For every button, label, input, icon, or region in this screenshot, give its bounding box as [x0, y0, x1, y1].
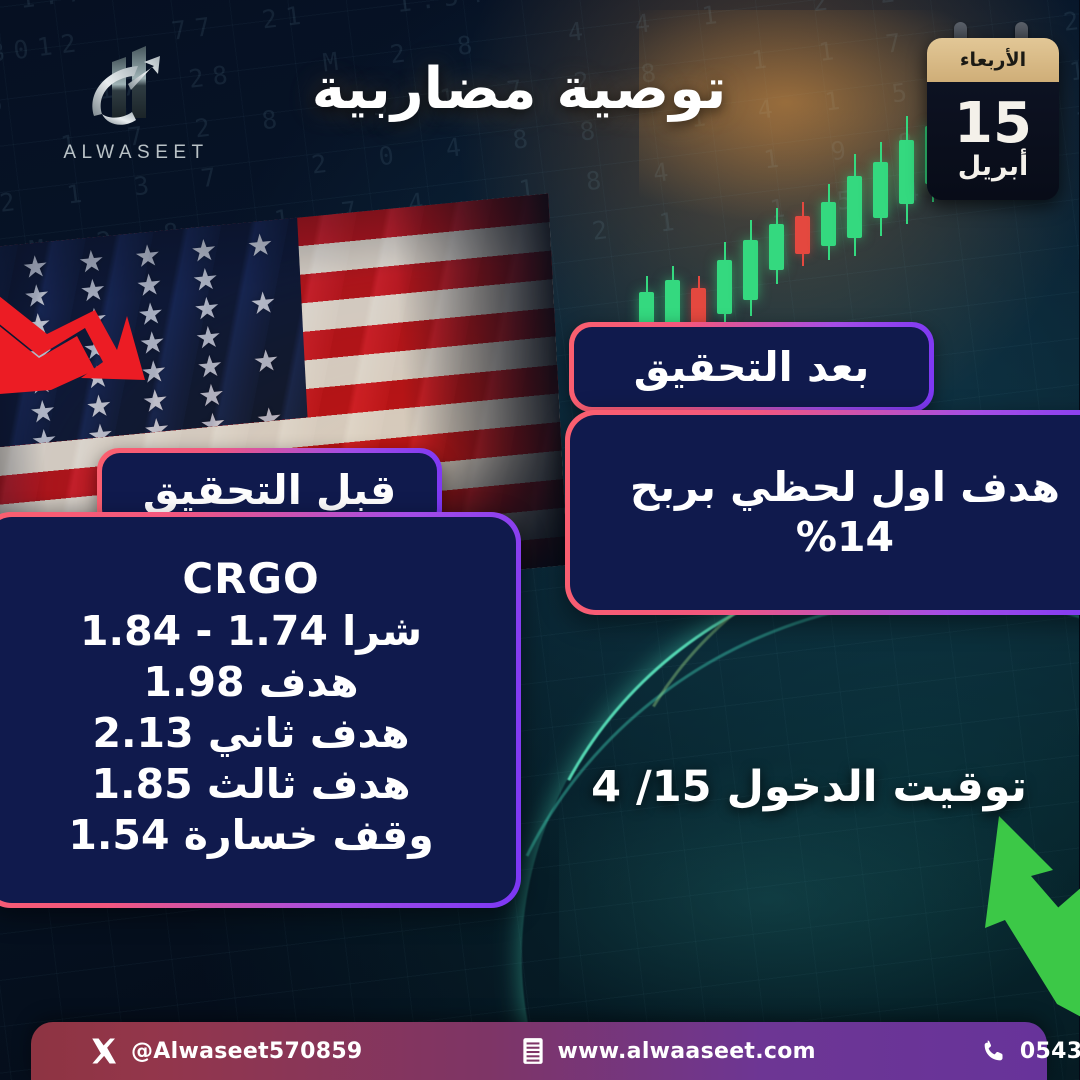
footer-website[interactable]: www.alwaaseet.com — [521, 1036, 817, 1066]
after-card-panel: هدف اول لحظي بربح 14% — [566, 410, 1080, 615]
brand-logo: ALWASEET — [52, 32, 222, 172]
x-twitter-icon — [90, 1036, 120, 1066]
before-card-header-label: قبل التحقيق — [144, 466, 397, 514]
red-down-arrow-icon — [0, 272, 146, 398]
target-3-line: هدف ثالث 1.85 — [92, 760, 411, 809]
target-2-line: هدف ثاني 2.13 — [93, 709, 410, 758]
calendar-day-of-week: الأربعاء — [961, 49, 1027, 71]
green-up-arrow-icon — [962, 808, 1080, 1030]
footer-x-handle[interactable]: @Alwaseet570859 — [90, 1036, 364, 1066]
after-card-header-label: بعد التحقيق — [635, 343, 870, 391]
target-1-line: هدف 1.98 — [144, 658, 359, 707]
calendar-widget: الأربعاء 15 أبريل — [928, 22, 1060, 200]
after-card-header-pill: بعد التحقيق — [570, 322, 935, 412]
brand-logo-wordmark: ALWASEET — [52, 142, 222, 164]
page-title: توصية مضاربية — [250, 56, 790, 122]
before-card-panel: CRGO شرا 1.74 - 1.84 هدف 1.98 هدف ثاني 2… — [0, 512, 522, 908]
bars-swoosh-logo-icon — [77, 32, 197, 140]
entry-timing-text: توقيت الدخول 15/ 4 — [540, 752, 1080, 822]
calendar-date-area: 15 أبريل — [928, 82, 1060, 200]
calendar-month: أبريل — [959, 151, 1029, 183]
footer-phone[interactable]: 0543534399 — [981, 1037, 1080, 1065]
footer-x-handle-text: @Alwaseet570859 — [132, 1039, 364, 1064]
footer-phone-text: 0543534399 — [1021, 1039, 1080, 1064]
document-icon — [521, 1036, 547, 1066]
calendar-body: الأربعاء 15 أبريل — [928, 38, 1060, 200]
entry-price-line: شرا 1.74 - 1.84 — [81, 607, 423, 656]
after-card-text: هدف اول لحظي بربح 14% — [599, 463, 1080, 561]
footer-website-text: www.alwaaseet.com — [559, 1039, 817, 1064]
footer-bar: @Alwaseet570859 www.alwaaseet.com 054353… — [32, 1022, 1048, 1080]
calendar-header: الأربعاء — [928, 38, 1060, 82]
calendar-day-number: 15 — [955, 99, 1033, 149]
ticker-symbol: CRGO — [183, 554, 320, 603]
phone-icon — [981, 1037, 1009, 1065]
stop-loss-line: وقف خسارة 1.54 — [69, 811, 434, 860]
